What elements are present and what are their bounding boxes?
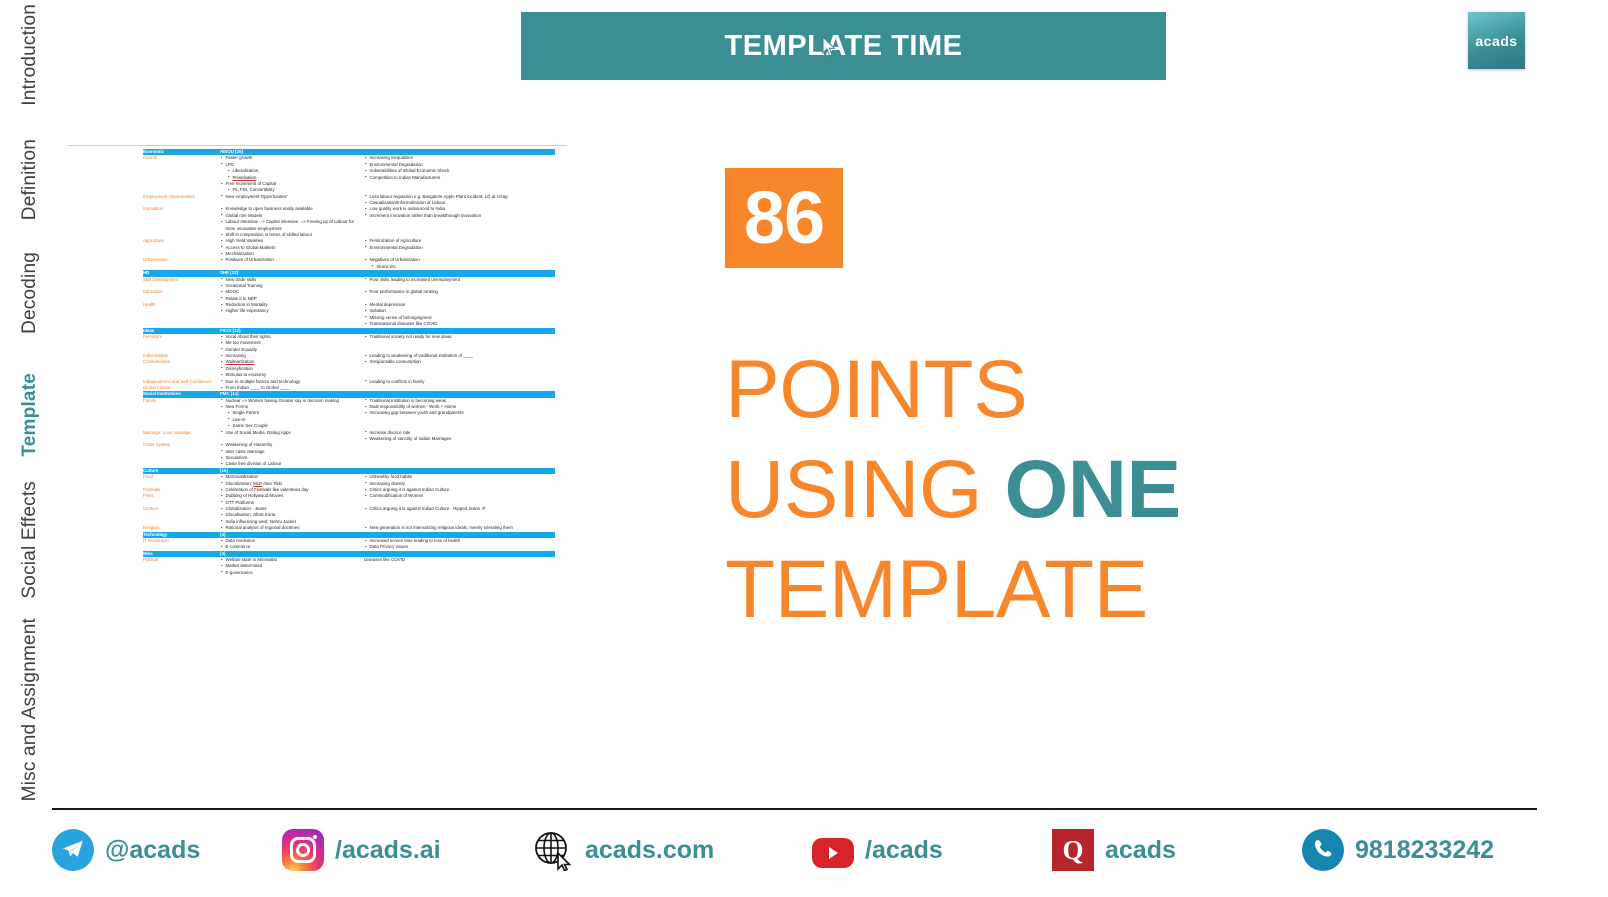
table-cell-positives: From Indian ____ to Global ____ (220, 385, 364, 391)
bullet-item: Poor skills leading to increased unemplo… (370, 277, 556, 283)
instagram-icon (282, 829, 324, 871)
table-cell-negatives: Negatives of UrbanizationSlums etc. (364, 257, 555, 270)
bullet-list: New employment Opportunities' (220, 194, 364, 200)
bullet-item: Weakening of sanctity of Indian Marriage… (370, 436, 556, 442)
table-row: FeminismVocal About their rights,Me too … (143, 334, 555, 353)
table-row: ConsumerismWalmartizationDisneyficationS… (143, 359, 555, 378)
table-row-label: Food (143, 474, 220, 487)
table-cell-negatives: Increase divorce rateWeakening of sancti… (364, 430, 555, 443)
table-cell-negatives: Traditional Institution is becoming weak… (364, 398, 555, 430)
table-row: FoodMcDonaldizationGlocalization: McD Al… (143, 474, 555, 487)
sidebar-item-definition[interactable]: Definition (0, 130, 58, 230)
bullet-item: Negatives of UrbanizationSlums etc. (370, 257, 556, 270)
bullet-item: Increasing gap between youth and grandpa… (370, 410, 556, 416)
footer-link-phone[interactable]: 9818233242 (1302, 829, 1494, 871)
table-row: Employment OpportunitiesNew employment O… (143, 194, 555, 207)
template-table: EconomicAEIOU [25]OverallFaster growthLP… (143, 149, 555, 576)
bullet-list: Irresponsible consumption (364, 359, 555, 365)
table-row-label: Agriculture (143, 238, 220, 257)
bullet-list: Less labour regulation e.g. Bangalore Ap… (364, 194, 555, 207)
table-cell-negatives: Traditional society not ready for new id… (364, 334, 555, 353)
bullet-list: Increased screen time leading to loss of… (364, 538, 555, 551)
table-row: PoliticalWelfare state to MinimalistMark… (143, 557, 555, 576)
bullet-list: Commodification of Women (364, 493, 555, 499)
bullet-item: Irresponsible consumption (370, 359, 556, 365)
bullet-list: Traditional Institution is becoming weak… (364, 398, 555, 417)
sidebar-item-label: Decoding (20, 252, 39, 334)
footer-link-quora[interactable]: Qacads (1052, 829, 1176, 871)
table-cell-positives: New employment Opportunities' (220, 194, 364, 207)
table-cell-positives: McDonaldizationGlocalization: McD Aloo T… (220, 474, 364, 487)
bullet-list: New trade skillsVocational Training (220, 277, 364, 290)
table-cell-negatives: Poor performance in global ranking (364, 289, 555, 302)
bullet-item: Use of Social Media, Dating Apps (226, 430, 365, 436)
table-cell-positives: Knowledge to open business easily availa… (220, 206, 364, 238)
footer-link-instagram[interactable]: /acads.ai (282, 829, 441, 871)
table-cell-positives: Globalization - JeansGlocalisation: Shor… (220, 506, 364, 525)
bullet-list: Welfare state to MinimalistMarket determ… (220, 557, 364, 576)
bullet-list: Dubbing of Hollywood MoviesOTT Platforms (220, 493, 364, 506)
table-row-label: Overall (143, 155, 220, 193)
bullet-item: Leading to conflicts in family (370, 379, 556, 385)
bullet-list: From Indian ____ to Global ____ (220, 385, 364, 391)
table-cell-negatives: Irresponsible consumption (364, 359, 555, 378)
bullet-list: Liberalization,Privatisation (226, 168, 365, 181)
count-badge-value: 86 (744, 181, 824, 255)
table-cell-positives: High Yield VarietiesAccess to Global Mar… (220, 238, 364, 257)
bullet-item: Commodification of Women (370, 493, 556, 499)
table-cell-negatives: Low quality work is outsourced to IndiaI… (364, 206, 555, 238)
bullet-item: Transnational diseases like COVID (370, 321, 556, 327)
hero-line-1: POINTS (725, 340, 1285, 440)
table-cell-positives: Nuclear => Women having Greater say in d… (220, 398, 364, 430)
sidebar-item-social-effects[interactable]: Social Effects (0, 480, 58, 600)
bullet-item: New FormsSingle ParentLive-inSame Sex Co… (226, 404, 365, 430)
bullet-item: LPGLiberalization,Privatisation (226, 162, 365, 181)
footer-link-label: acads.com (585, 836, 714, 865)
table-cell-positives: Dubbing of Hollywood MoviesOTT Platforms (220, 493, 364, 506)
bullet-item: Slums etc. (377, 264, 556, 270)
bullet-list: Positives of Urbanization (220, 257, 364, 263)
bullet-list: Negatives of UrbanizationSlums etc. (364, 257, 555, 270)
bullet-item: Rational analysis of regional doctrines (226, 525, 365, 531)
bullet-list: High Yield VarietiesAccess to Global Mar… (220, 238, 364, 257)
bullet-item: Labour Intensive --> Capital intensive. … (226, 219, 365, 232)
bullet-list: Mental depressionIsolationMissing sense … (364, 302, 555, 328)
table-row: AgricultureHigh Yield VarietiesAccess to… (143, 238, 555, 257)
table-cell-positives: Data revolutionE-commerce (220, 538, 364, 551)
bullet-list: Increasing inequalitiesEnvironmental Deg… (364, 155, 555, 181)
sidebar-item-label: Introduction (20, 4, 39, 106)
sidebar-item-label: Definition (20, 139, 39, 220)
table-cell-positives: MOOCRelate it to NEP (220, 289, 364, 302)
bullet-list: Feminization of AgricultureEnvironmental… (364, 238, 555, 251)
bullet-item: Poor performance in global ranking (370, 289, 556, 295)
bullet-list: WalmartizationDisneyficationStimulus to … (220, 359, 364, 378)
bullet-item: Free movement of CapitalFII, FDI, Conver… (226, 181, 365, 194)
table-cell-negatives: Unhealthy food habitsIncreasing obesity (364, 474, 555, 487)
table-row-label: Health (143, 302, 220, 328)
table-row-label: Employment Opportunities (143, 194, 220, 207)
table-cell-negatives: Diseases like COVID (364, 557, 555, 576)
table-row-label: Caste System (143, 442, 220, 468)
bullet-list: Traditional society not ready for new id… (364, 334, 555, 340)
table-cell-positives: WalmartizationDisneyficationStimulus to … (220, 359, 364, 378)
bullet-list: Rational analysis of regional doctrines (220, 525, 364, 531)
bullet-list: Unhealthy food habitsIncreasing obesity (364, 474, 555, 487)
bullet-item: New generation is not internalizing reli… (370, 525, 556, 531)
quora-icon: Q (1052, 829, 1094, 871)
table-row: ClothesGlobalization - JeansGlocalisatio… (143, 506, 555, 525)
table-cell-negatives: Feminization of AgricultureEnvironmental… (364, 238, 555, 257)
hero-headline: POINTS USING ONE TEMPLATE (725, 340, 1285, 640)
globe-cursor-icon (532, 829, 574, 871)
bullet-list: Poor skills leading to increased unemplo… (364, 277, 555, 283)
header-banner: TEMPLATE TIME (521, 12, 1166, 80)
footer-social-bar: @acads/acads.aiacads.com/acadsQacads9818… (52, 815, 1552, 885)
bullet-list: Increase divorce rateWeakening of sancti… (364, 430, 555, 443)
table-row: InnovationKnowledge to open business eas… (143, 206, 555, 238)
table-row: OverallFaster growthLPGLiberalization,Pr… (143, 155, 555, 193)
footer-link-label: @acads (105, 836, 200, 865)
bullet-list: McDonaldizationGlocalization: McD Aloo T… (220, 474, 364, 487)
count-badge: 86 (725, 168, 843, 268)
table-row: Caste SystemWeakening of HierarchyInter … (143, 442, 555, 468)
table-row: UrbanizationPositives of UrbanizationNeg… (143, 257, 555, 270)
sidebar-item-introduction[interactable]: Introduction (0, 0, 58, 110)
bullet-list: Use of Social Media, Dating Apps (220, 430, 364, 436)
phone-icon (1302, 829, 1344, 871)
table-row-label: Urbanization (143, 257, 220, 270)
page-title: TEMPLATE TIME (725, 30, 963, 63)
hero-line-2-prefix: USING (725, 444, 1004, 535)
footer-divider (52, 808, 1537, 810)
bullet-item: Critics arguing it is against Indian Cul… (370, 506, 556, 512)
table-row-label: Independence and Self Confidence (143, 379, 220, 385)
telegram-icon (52, 829, 94, 871)
table-row-label: Films (143, 493, 220, 506)
table-cell-positives: Rational analysis of regional doctrines (220, 525, 364, 531)
table-row-label: Clothes (143, 506, 220, 525)
bullet-list: Reduction in MortalityHigher life expect… (220, 302, 364, 315)
hero-line-2: USING ONE (725, 440, 1285, 540)
table-cell-negatives: Less labour regulation e.g. Bangalore Ap… (364, 194, 555, 207)
table-row-label: Education (143, 289, 220, 302)
bullet-item: Competition to Indian Manufacturers (370, 175, 556, 181)
table-cell-negatives (364, 442, 555, 468)
bullet-list: Leading to conflicts in family (364, 379, 555, 385)
table-cell-positives: Vocal About their rights,Me too movement… (220, 334, 364, 353)
table-row: Marriage: Love marriageUse of Social Med… (143, 430, 555, 443)
footer-link-label: /acads (865, 836, 943, 865)
table-row: Skill DevelopmentNew trade skillsVocatio… (143, 277, 555, 290)
hero-line-2-accent: ONE (1004, 444, 1180, 535)
table-row: EducationMOOCRelate it to NEPPoor perfor… (143, 289, 555, 302)
bullet-list: Globalization - JeansGlocalisation: Shor… (220, 506, 364, 525)
table-cell-positives: Faster growthLPGLiberalization,Privatisa… (220, 155, 364, 193)
table-row-label: Innovation (143, 206, 220, 238)
bullet-item: E-commerce (226, 544, 365, 550)
table-cell-positives: New trade skillsVocational Training (220, 277, 364, 290)
bullet-list: New generation is not internalizing reli… (364, 525, 555, 531)
table-cell-positives: Use of Social Media, Dating Apps (220, 430, 364, 443)
table-row-label: Consumerism (143, 359, 220, 378)
table-cell-positives: Weakening of HierarchyInter caste Marria… (220, 442, 364, 468)
table-cell-negatives: Mental depressionIsolationMissing sense … (364, 302, 555, 328)
bullet-list: Vocal About their rights,Me too movement… (220, 334, 364, 353)
youtube-icon (812, 838, 854, 868)
sidebar-item-label: Misc and Assignment (20, 618, 39, 801)
footer-link-label: /acads.ai (335, 836, 441, 865)
table-cell-positives: Welfare state to MinimalistMarket determ… (220, 557, 364, 576)
table-top-divider (67, 145, 567, 146)
table-cell-positives: Positives of Urbanization (220, 257, 364, 270)
footer-link-label: acads (1105, 836, 1176, 865)
table-cell-negatives: Poor skills leading to increased unemplo… (364, 277, 555, 290)
table-cell-negatives: Increasing inequalitiesEnvironmental Deg… (364, 155, 555, 193)
sidebar-item-template[interactable]: Template (0, 375, 58, 455)
table-row-label: Feminism (143, 334, 220, 353)
table-row-label: Political (143, 557, 220, 576)
bullet-item: From Indian ____ to Global ____ (226, 385, 365, 391)
footer-link-youtube[interactable]: /acads (812, 832, 943, 868)
brand-logo[interactable]: acads (1468, 12, 1525, 69)
bullet-list: Knowledge to open business easily availa… (220, 206, 364, 238)
sidebar-nav: IntroductionDefinitionDecodingTemplateSo… (0, 0, 58, 800)
bullet-list: Data revolutionE-commerce (220, 538, 364, 551)
bullet-item: E-governance (226, 570, 365, 576)
table-cell-positives: Reduction in MortalityHigher life expect… (220, 302, 364, 328)
table-row-label: IT Revolution (143, 538, 220, 551)
bullet-list: Weakening of HierarchyInter caste Marria… (220, 442, 364, 468)
bullet-list: Critics arguing it is against Indian Cul… (364, 506, 555, 512)
sidebar-item-misc-and-assignment[interactable]: Misc and Assignment (0, 620, 58, 800)
bullet-list: Slums etc. (370, 264, 556, 270)
table-cell-negatives: Critics arguing it is against Indian Cul… (364, 506, 555, 525)
bullet-list: Faster growthLPGLiberalization,Privatisa… (220, 155, 364, 193)
table-row-label: Marriage: Love marriage (143, 430, 220, 443)
sidebar-item-label: Template (20, 373, 39, 457)
table-row-label: Family (143, 398, 220, 430)
footer-link-label: 9818233242 (1355, 836, 1494, 865)
bullet-item: Data Privacy issues (370, 544, 556, 550)
table-row-label: Skill Development (143, 277, 220, 290)
table-row: FilmsDubbing of Hollywood MoviesOTT Plat… (143, 493, 555, 506)
bullet-item: Caste free division of Labour (226, 461, 365, 467)
bullet-item: Higher life expectancy (226, 308, 365, 314)
table-cell-negatives: New generation is not internalizing reli… (364, 525, 555, 531)
bullet-item: Traditional society not ready for new id… (370, 334, 556, 340)
bullet-item: New employment Opportunities' (226, 194, 365, 200)
bullet-item: Increment innovation rather than breakth… (370, 213, 556, 219)
footer-link-telegram[interactable]: @acads (52, 829, 200, 871)
table-row: HealthReduction in MortalityHigher life … (143, 302, 555, 328)
hero-line-3: TEMPLATE (725, 540, 1285, 640)
quora-letter: Q (1062, 837, 1083, 864)
sidebar-item-label: Social Effects (20, 481, 39, 599)
bullet-list: Nuclear => Women having Greater say in d… (220, 398, 364, 430)
bullet-list: Single ParentLive-inSame Sex Couple (226, 410, 365, 429)
brand-logo-text: acads (1475, 33, 1517, 49)
bullet-item: Positives of Urbanization (226, 257, 365, 263)
table-row: FamilyNuclear => Women having Greater sa… (143, 398, 555, 430)
bullet-item: Environmental Degradation (370, 245, 556, 251)
table-cell-negatives: Leading to conflicts in family (364, 379, 555, 385)
sidebar-item-decoding[interactable]: Decoding (0, 245, 58, 340)
bullet-list: MOOCRelate it to NEP (220, 289, 364, 302)
table-cell-negatives: Commodification of Women (364, 493, 555, 506)
bullet-list: Poor performance in global ranking (364, 289, 555, 295)
footer-link-globe-cursor[interactable]: acads.com (532, 829, 714, 871)
bullet-list: Low quality work is outsourced to IndiaI… (364, 206, 555, 219)
table-row: IT RevolutionData revolutionE-commerceIn… (143, 538, 555, 551)
table-cell-negatives: Increased screen time leading to loss of… (364, 538, 555, 551)
